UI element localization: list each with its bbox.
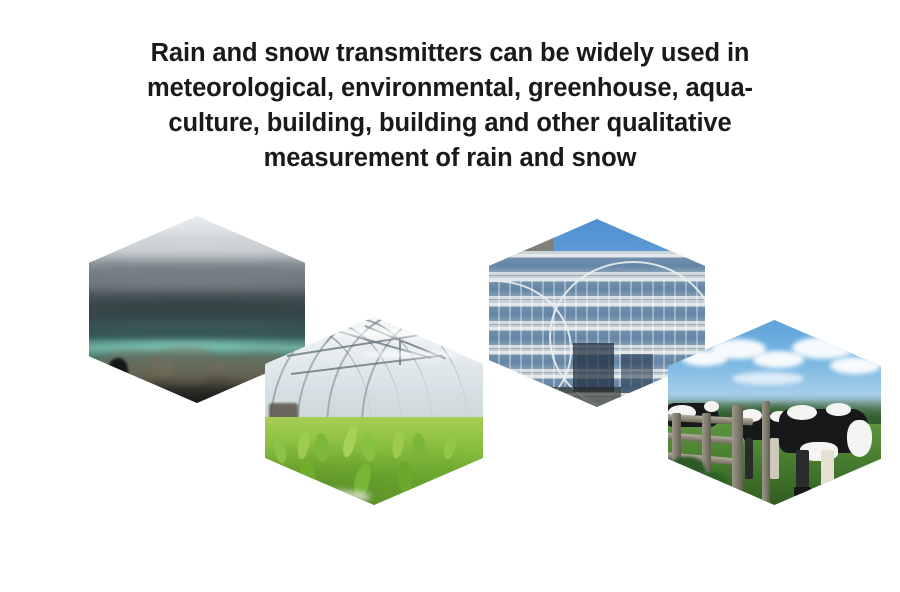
plant-leaf <box>297 458 319 493</box>
cloud-wisp <box>89 298 305 313</box>
hex-image-gallery <box>0 0 900 592</box>
fence-post <box>762 401 771 505</box>
cow-leg <box>821 450 834 494</box>
cloud-wisp <box>89 242 305 259</box>
hedge-bush <box>694 472 728 505</box>
cloud-wisp <box>89 278 305 291</box>
cow-leg <box>745 438 754 479</box>
plant-leaf <box>395 460 415 494</box>
recessed-glazing <box>573 343 614 392</box>
hedge-bush <box>668 457 706 498</box>
cloud <box>732 372 804 385</box>
roof-highlight <box>330 328 443 337</box>
plant-leaf <box>341 425 359 458</box>
cloud <box>792 337 856 359</box>
foreground-shrub <box>489 381 541 407</box>
cow-leg <box>770 438 779 479</box>
plant-leaf <box>411 433 429 463</box>
cow-hoof <box>794 487 811 496</box>
fence-post <box>732 405 743 505</box>
plant-leaf <box>442 429 458 460</box>
cloud-wisp <box>89 321 305 332</box>
fence-post <box>672 413 681 498</box>
plant-leaf <box>391 428 405 459</box>
entrance-shadow <box>524 387 621 407</box>
plant-leaf <box>296 429 311 460</box>
fence-post <box>702 413 711 502</box>
cloud-wisp <box>89 261 305 276</box>
slide: Rain and snow transmitters can be widely… <box>0 0 900 592</box>
plant-leaf <box>313 432 330 462</box>
crop-bed <box>265 417 483 505</box>
cow-white-patch <box>787 405 817 420</box>
plant-leaf <box>360 434 378 464</box>
silhouette-tree <box>108 358 127 384</box>
plant-leaf <box>271 436 289 464</box>
recessed-glazing <box>621 354 652 393</box>
cloud <box>830 357 881 374</box>
roof-plant-box <box>506 227 530 253</box>
cow-hoof <box>819 487 836 496</box>
tunnel-floor-strip <box>278 490 370 503</box>
